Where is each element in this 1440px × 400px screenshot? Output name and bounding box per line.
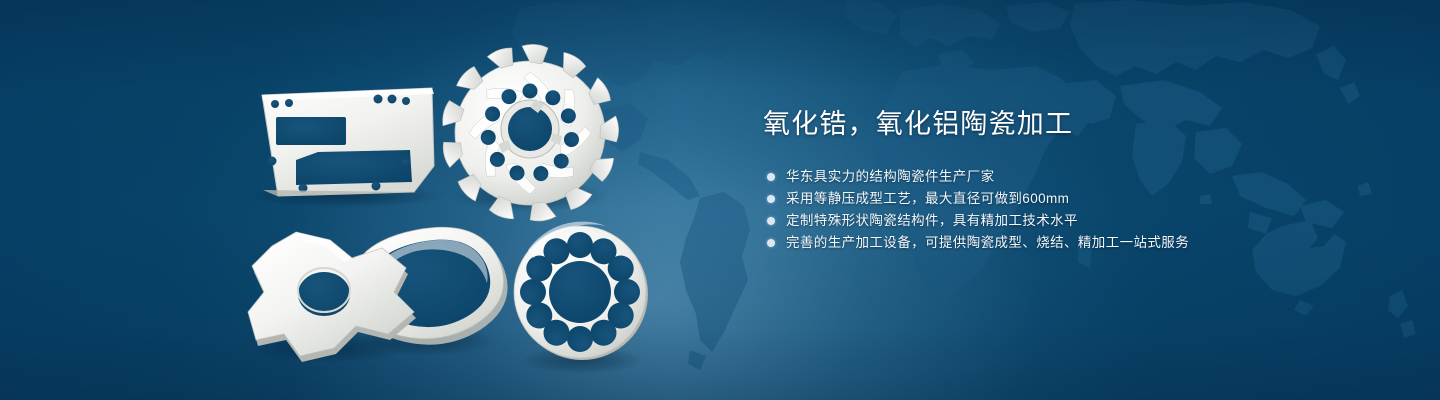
ceramic-impeller-wheel xyxy=(440,44,620,223)
list-item-label: 采用等静压成型工艺，最大直径可做到600mm xyxy=(786,188,1069,210)
page-title: 氧化锆，氧化铝陶瓷加工 xyxy=(763,104,1383,144)
bullet-dot-icon xyxy=(767,239,775,247)
list-item-label: 定制特殊形状陶瓷结构件，具有精加工技术水平 xyxy=(786,210,1078,232)
ceramic-machined-plate xyxy=(245,88,445,208)
banner-copy: 氧化锆，氧化铝陶瓷加工 华东具实力的结构陶瓷件生产厂家 采用等静压成型工艺，最大… xyxy=(763,104,1383,254)
bullet-dot-icon xyxy=(767,217,775,225)
bullet-dot-icon xyxy=(767,173,775,181)
ceramic-perforated-disc xyxy=(514,222,648,374)
list-item-label: 华东具实力的结构陶瓷件生产厂家 xyxy=(786,166,995,188)
ceramic-products-group xyxy=(0,0,760,400)
list-item: 完善的生产加工设备，可提供陶瓷成型、烧结、精加工一站式服务 xyxy=(763,232,1383,254)
feature-list: 华东具实力的结构陶瓷件生产厂家 采用等静压成型工艺，最大直径可做到600mm 定… xyxy=(763,166,1383,254)
list-item: 采用等静压成型工艺，最大直径可做到600mm xyxy=(763,188,1383,210)
list-item-label: 完善的生产加工设备，可提供陶瓷成型、烧结、精加工一站式服务 xyxy=(786,232,1189,254)
list-item: 华东具实力的结构陶瓷件生产厂家 xyxy=(763,166,1383,188)
list-item: 定制特殊形状陶瓷结构件，具有精加工技术水平 xyxy=(763,210,1383,232)
bullet-dot-icon xyxy=(767,195,775,203)
hero-banner: 氧化锆，氧化铝陶瓷加工 华东具实力的结构陶瓷件生产厂家 采用等静压成型工艺，最大… xyxy=(0,0,1440,400)
